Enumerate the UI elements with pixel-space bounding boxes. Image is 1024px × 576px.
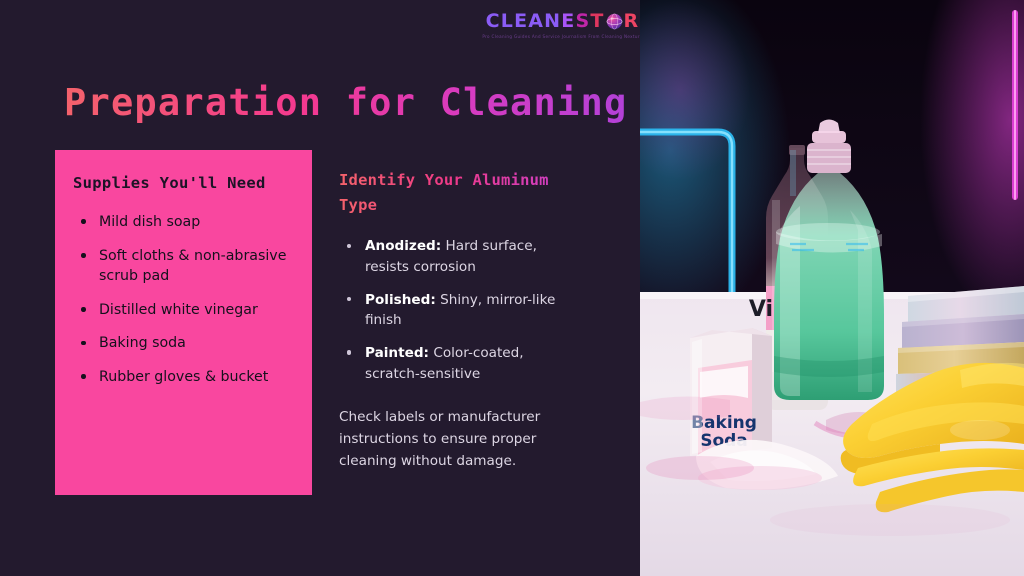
list-item: Soft cloths & non-abrasive scrub pad [73, 246, 294, 287]
list-item-label: Baking soda [99, 335, 186, 351]
list-item-label: Distilled white vinegar [99, 302, 258, 318]
list-item: Baking soda [73, 333, 294, 354]
page-title: Preparation for Cleaning [64, 82, 627, 125]
hero-photo: Vinegar [640, 0, 1024, 576]
bullet-icon [81, 253, 86, 258]
list-item: Rubber gloves & bucket [73, 367, 294, 388]
list-item-label: Rubber gloves & bucket [99, 369, 268, 385]
aluminum-types-heading: Identify Your Aluminum Type [339, 168, 579, 218]
supplies-card-heading: Supplies You'll Need [73, 174, 294, 192]
list-item-label: Polished: [365, 292, 436, 308]
logo-wordmark: CLEANEST R [486, 12, 640, 31]
bullet-icon [347, 350, 351, 354]
logo-tagline: Pro Cleaning Guides And Service Journali… [482, 34, 642, 39]
list-item-label: Soft cloths & non-abrasive scrub pad [99, 248, 286, 285]
list-item-label: Mild dish soap [99, 214, 200, 230]
logo-part-t: T [590, 12, 604, 31]
list-item-label: Anodized: [365, 238, 441, 254]
aluminum-types-section: Identify Your Aluminum Type Anodized: Ha… [339, 168, 579, 472]
content-pane: CLEANEST R [0, 0, 640, 576]
bullet-icon [347, 297, 351, 301]
bullet-icon [81, 307, 86, 312]
list-item: Anodized: Hard surface, resists corrosio… [339, 236, 579, 277]
bullet-icon [347, 244, 351, 248]
bullet-icon [81, 341, 86, 346]
list-item: Distilled white vinegar [73, 300, 294, 321]
logo-part-s: S [575, 12, 590, 31]
supplies-list: Mild dish soap Soft cloths & non-abrasiv… [73, 212, 294, 388]
hero-photo-illustration: Vinegar [640, 0, 1024, 576]
logo-part-e: E [561, 12, 575, 31]
list-item-label: Painted: [365, 345, 429, 361]
aluminum-types-note: Check labels or manufacturer instruction… [339, 406, 579, 472]
list-item: Painted: Color-coated, scratch-sensitive [339, 343, 579, 384]
baking-soda-box: Baking Soda [690, 328, 772, 456]
logo-part-clean: CLEAN [486, 12, 562, 31]
aluminum-types-list: Anodized: Hard surface, resists corrosio… [339, 236, 579, 384]
list-item: Polished: Shiny, mirror-like finish [339, 290, 579, 331]
bullet-icon [81, 374, 86, 379]
globe-icon [606, 13, 623, 30]
bullet-icon [81, 219, 86, 224]
supplies-card: Supplies You'll Need Mild dish soap Soft… [55, 150, 312, 495]
logo-part-r: R [624, 12, 640, 31]
brand-logo[interactable]: CLEANEST R [490, 12, 635, 39]
slide-root: CLEANEST R [0, 0, 1024, 576]
list-item: Mild dish soap [73, 212, 294, 233]
